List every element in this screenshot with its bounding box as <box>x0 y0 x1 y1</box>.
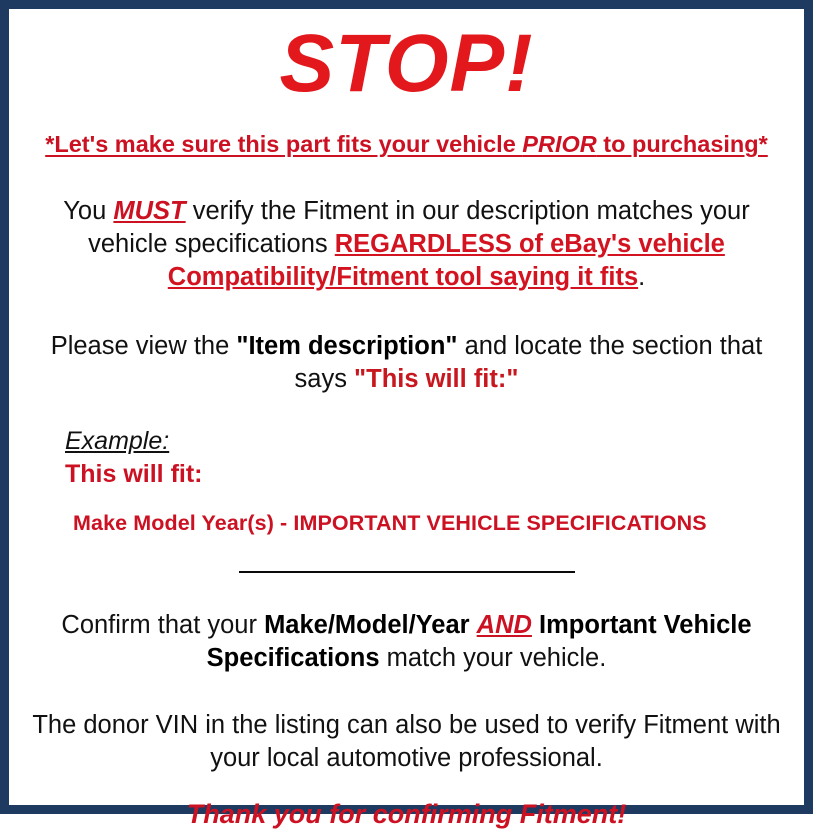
example-section: Example: This will fit: Make Model Year(… <box>23 396 790 537</box>
subtitle-emphasis-prior: PRIOR <box>522 131 596 157</box>
notice-content: STOP! *Let's make sure this part fits yo… <box>9 9 804 805</box>
emphasis-make-model-year: Make/Model/Year <box>264 611 470 639</box>
page-title: STOP! <box>23 9 790 113</box>
subtitle-banner: *Let's make sure this part fits your veh… <box>23 113 790 159</box>
example-spec-line: Make Model Year(s) - IMPORTANT VEHICLE S… <box>65 490 790 537</box>
paragraph-must-verify: You MUST verify the Fitment in our descr… <box>23 159 790 294</box>
subtitle-text-before: *Let's make sure this part fits your veh… <box>45 131 522 157</box>
closing-thank-you: Thank you for confirming Fitment! <box>23 775 790 831</box>
paragraph-confirm: Confirm that your Make/Model/Year AND Im… <box>23 581 790 675</box>
paragraph-item-description: Please view the "Item description" and l… <box>23 294 790 396</box>
view-text-1: Please view the <box>51 332 237 360</box>
confirm-text-1: Confirm that your <box>61 611 264 639</box>
emphasis-and: AND <box>477 611 532 639</box>
example-label-row: Example: <box>65 426 790 456</box>
paragraph-donor-vin: The donor VIN in the listing can also be… <box>23 675 790 775</box>
subtitle-text-after: to purchasing* <box>597 131 768 157</box>
confirm-text-2: match your vehicle. <box>380 644 607 672</box>
fitment-notice-card: STOP! *Let's make sure this part fits yo… <box>0 0 813 814</box>
horizontal-divider <box>239 571 575 573</box>
emphasis-item-description: "Item description" <box>236 332 457 360</box>
divider-row <box>23 537 790 581</box>
emphasis-must: MUST <box>113 197 185 225</box>
example-fit-heading: This will fit: <box>65 456 790 490</box>
must-text-1: You <box>63 197 113 225</box>
emphasis-this-will-fit: "This will fit:" <box>354 365 518 393</box>
must-text-3: . <box>638 263 645 291</box>
example-label: Example: <box>65 426 169 456</box>
